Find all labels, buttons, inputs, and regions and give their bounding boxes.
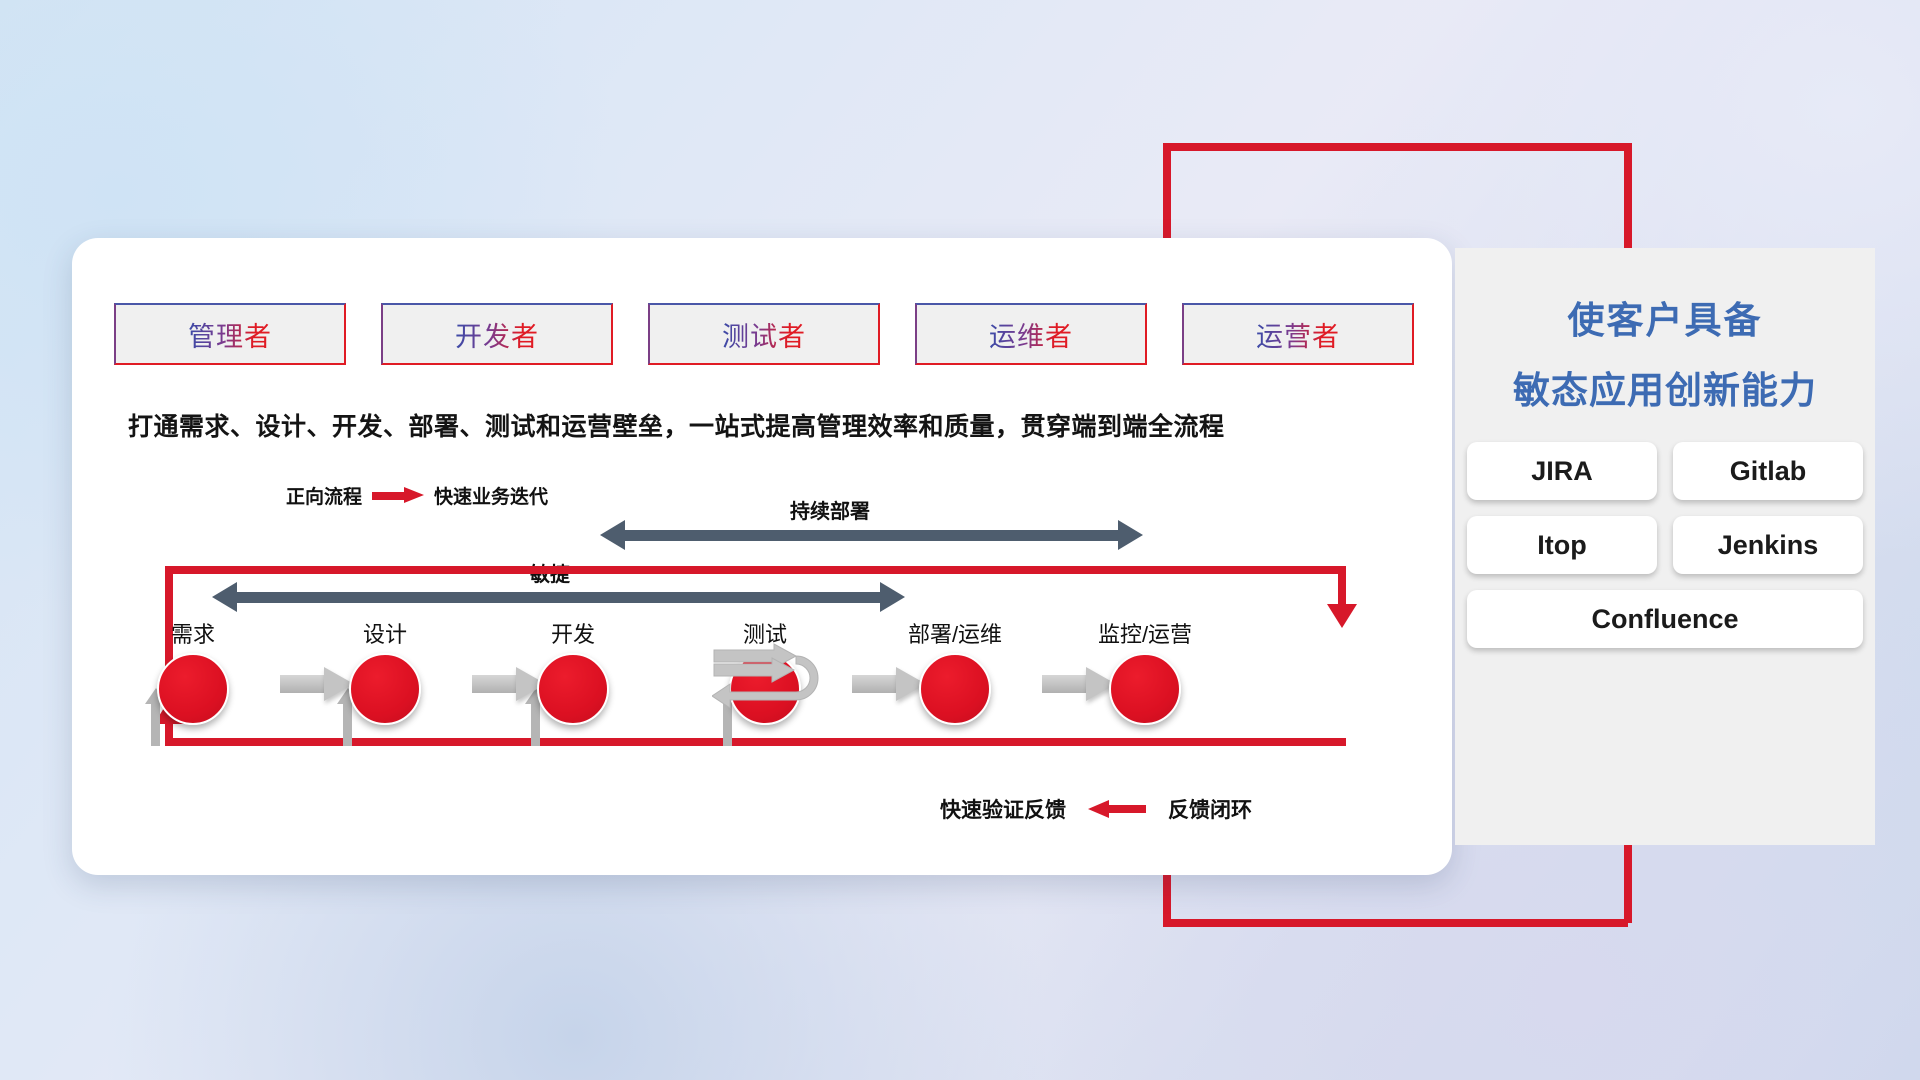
role-box-tester[interactable]: 测试者 xyxy=(648,303,880,365)
stage-deploy-ops[interactable]: 部署/运维 xyxy=(895,617,1015,725)
outer-bracket-top xyxy=(1163,143,1628,151)
outer-bracket-left-top xyxy=(1163,143,1171,253)
tool-chip-jenkins[interactable]: Jenkins xyxy=(1673,516,1863,574)
tool-chip-gitlab[interactable]: Gitlab xyxy=(1673,442,1863,500)
role-label: 测试者 xyxy=(722,315,806,354)
tool-chip-jira[interactable]: JIRA xyxy=(1467,442,1657,500)
iteration-loop-arrow-icon xyxy=(712,642,820,714)
arrow-right-red-icon xyxy=(372,487,424,504)
role-box-ops[interactable]: 运维者 xyxy=(915,303,1147,365)
right-panel: 使客户具备 敏态应用创新能力 JIRA Gitlab Itop Jenkins … xyxy=(1455,248,1875,845)
headline-text: 打通需求、设计、开发、部署、测试和运营壁垒，一站式提高管理效率和质量，贯穿端到端… xyxy=(128,407,1408,443)
role-label: 管理者 xyxy=(188,315,272,354)
stage-monitor-operate[interactable]: 监控/运营 xyxy=(1085,617,1205,725)
continuous-deployment-arrow-bar xyxy=(625,530,1125,541)
agile-arrow-head-right xyxy=(880,582,905,612)
tool-chip-itop[interactable]: Itop xyxy=(1467,516,1657,574)
role-box-operator[interactable]: 运营者 xyxy=(1182,303,1414,365)
stage-dot-icon xyxy=(157,653,229,725)
fast-iteration-label: 快速业务迭代 xyxy=(434,482,548,509)
continuous-deployment-arrow-head-right xyxy=(1118,520,1143,550)
red-loop-top xyxy=(165,566,1346,574)
stage-development[interactable]: 开发 xyxy=(513,617,633,725)
stage-label: 监控/运营 xyxy=(1085,617,1205,649)
stage-label: 需求 xyxy=(133,617,253,649)
forward-process-legend: 正向流程 快速业务迭代 xyxy=(286,482,548,509)
role-label: 运营者 xyxy=(1256,315,1340,354)
tool-chip-confluence[interactable]: Confluence xyxy=(1467,590,1863,648)
panel-title-line1: 使客户具备 xyxy=(1455,290,1875,344)
role-label: 开发者 xyxy=(455,315,539,354)
arrow-left-red-icon xyxy=(1088,800,1146,818)
stage-dot-icon xyxy=(349,653,421,725)
stage-label: 开发 xyxy=(513,617,633,649)
forward-process-label: 正向流程 xyxy=(286,482,362,509)
role-label: 运维者 xyxy=(989,315,1073,354)
role-box-manager[interactable]: 管理者 xyxy=(114,303,346,365)
outer-bracket-bottom xyxy=(1163,919,1628,927)
stage-requirement[interactable]: 需求 xyxy=(133,617,253,725)
fast-verification-label: 快速验证反馈 xyxy=(940,794,1066,824)
role-box-row: 管理者 开发者 测试者 运维者 运营者 xyxy=(114,303,1414,365)
agile-arrow-bar xyxy=(237,592,887,603)
panel-title-line2: 敏态应用创新能力 xyxy=(1455,360,1875,414)
stage-design[interactable]: 设计 xyxy=(325,617,445,725)
role-box-developer[interactable]: 开发者 xyxy=(381,303,613,365)
feedback-loop-label: 反馈闭环 xyxy=(1168,794,1252,824)
continuous-deployment-arrow-head-left xyxy=(600,520,625,550)
stage-dot-icon xyxy=(919,653,991,725)
continuous-deployment-label: 持续部署 xyxy=(790,495,870,524)
stage-dot-icon xyxy=(537,653,609,725)
stage-dot-icon xyxy=(1109,653,1181,725)
stage-label: 部署/运维 xyxy=(895,617,1015,649)
tool-chip-grid: JIRA Gitlab Itop Jenkins Confluence xyxy=(1467,442,1863,648)
feedback-legend: 快速验证反馈 反馈闭环 xyxy=(940,794,1252,824)
agile-arrow-head-left xyxy=(212,582,237,612)
stage-label: 设计 xyxy=(325,617,445,649)
